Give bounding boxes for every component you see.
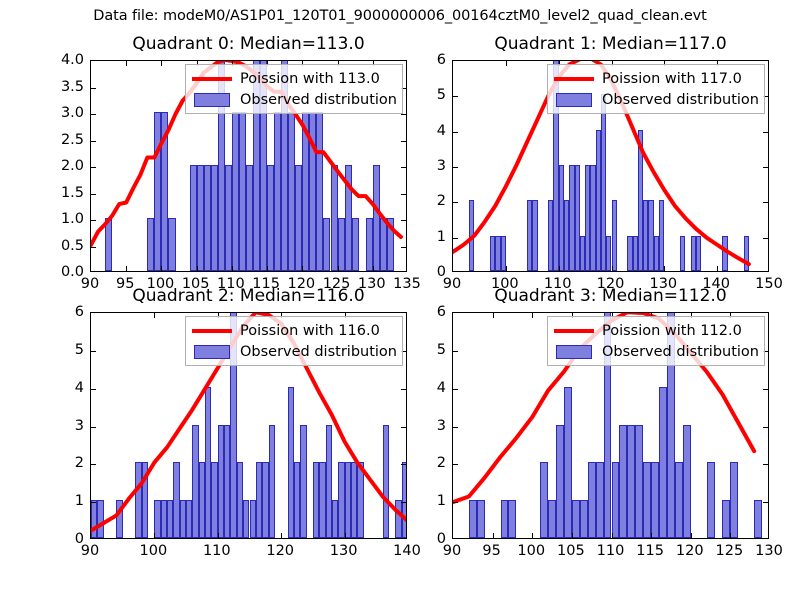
y-tick-label: 5 [424, 342, 446, 358]
x-tick-mark [493, 533, 494, 538]
y-tick-mark [453, 351, 458, 352]
y-tick-label: 1 [424, 493, 446, 509]
x-tick-mark [612, 533, 613, 538]
x-tick-label: 130 [755, 543, 783, 559]
x-tick-label: 105 [557, 543, 585, 559]
subplot-quadrant-3: Quadrant 3: Median=112.0Poission with 11… [0, 0, 800, 600]
y-tick-mark [453, 389, 458, 390]
y-tick-mark [763, 502, 768, 503]
legend-label-poisson: Poission with 112.0 [602, 323, 742, 339]
x-tick-label: 125 [716, 543, 744, 559]
legend-quadrant-3: Poission with 112.0Observed distribution [547, 316, 765, 366]
x-tick-label: 110 [597, 543, 625, 559]
subplot-title-quadrant-3: Quadrant 3: Median=112.0 [452, 286, 769, 306]
x-tick-mark [730, 533, 731, 538]
x-tick-label: 115 [636, 543, 664, 559]
legend-label-observed: Observed distribution [602, 344, 759, 360]
y-tick-mark [763, 389, 768, 390]
x-tick-label: 120 [676, 543, 704, 559]
y-tick-mark [453, 502, 458, 503]
x-tick-label: 100 [517, 543, 545, 559]
plot-area-quadrant-3: Poission with 112.0Observed distribution [452, 312, 769, 539]
x-tick-mark [572, 533, 573, 538]
x-tick-mark [532, 533, 533, 538]
y-tick-label: 4 [424, 380, 446, 396]
x-tick-label: 95 [482, 543, 500, 559]
y-tick-label: 2 [424, 455, 446, 471]
x-tick-mark [651, 533, 652, 538]
y-tick-label: 3 [424, 418, 446, 434]
legend-patch-swatch [552, 343, 596, 361]
x-tick-mark [532, 313, 533, 318]
matplotlib-figure: Data file: modeM0/AS1P01_120T01_90000000… [0, 0, 800, 600]
y-tick-mark [453, 427, 458, 428]
x-tick-mark [691, 533, 692, 538]
y-tick-label: 6 [424, 304, 446, 320]
legend-line-swatch [552, 322, 596, 340]
y-tick-mark [763, 464, 768, 465]
legend-entry-observed: Observed distribution [552, 341, 759, 362]
legend-entry-poisson: Poission with 112.0 [552, 320, 759, 341]
y-tick-mark [763, 427, 768, 428]
y-tick-mark [453, 464, 458, 465]
x-tick-mark [493, 313, 494, 318]
y-tick-label: 0 [424, 531, 446, 547]
